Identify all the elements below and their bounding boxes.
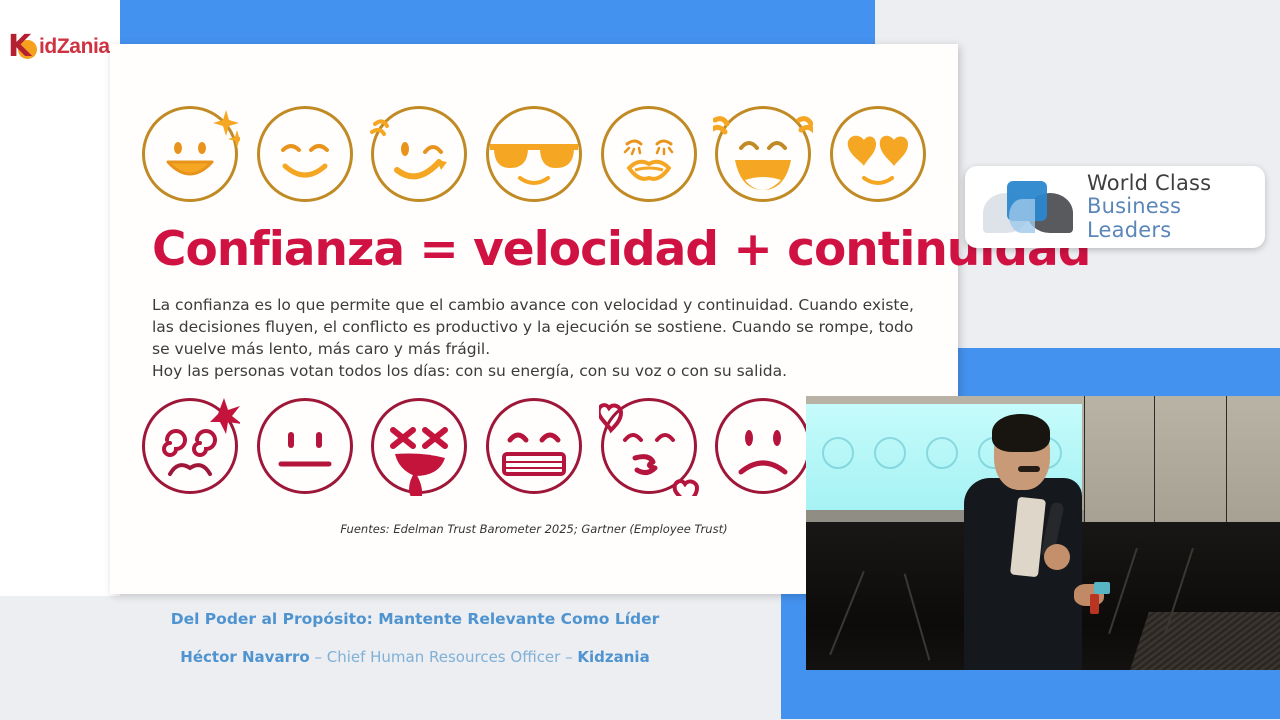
kissing-heart-face-icon	[599, 396, 699, 496]
caption-speaker-name: Héctor Navarro	[180, 648, 309, 666]
sad-face-icon	[713, 396, 813, 496]
kidzania-logo-text: idZania	[39, 35, 110, 59]
sunglasses-face-icon	[484, 104, 584, 204]
kidzania-logo: K idZania	[8, 32, 118, 62]
caption-speaker-line: Héctor Navarro – Chief Human Resources O…	[60, 648, 770, 666]
background-white-left	[0, 0, 120, 596]
emoji-row-top	[110, 104, 958, 204]
presenter-clicker-icon	[1094, 582, 1110, 594]
slide-headline: Confianza = velocidad + continuidad	[110, 222, 958, 277]
heart-eyes-face-icon	[828, 104, 928, 204]
tongue-out-face-icon	[369, 396, 469, 496]
caption-title: Del Poder al Propósito: Mantente Relevan…	[60, 610, 770, 628]
laughing-face-icon	[713, 104, 813, 204]
badge-line-2: Business Leaders	[1087, 195, 1265, 242]
slide-body-paragraph-1: La confianza es lo que permite que el ca…	[152, 294, 917, 360]
grimacing-face-icon	[484, 396, 584, 496]
neutral-face-icon	[255, 396, 355, 496]
sparkling-smile-face-icon	[140, 104, 240, 204]
caption-separator-1: –	[310, 648, 327, 666]
kidzania-logo-letter: K	[8, 33, 31, 61]
slide-body-paragraph-2: Hoy las personas votan todos los días: c…	[152, 360, 917, 382]
caption-role: Chief Human Resources Officer	[327, 648, 561, 666]
presentation-video-overlay[interactable]	[806, 396, 1280, 670]
world-class-business-leaders-badge: World Class Business Leaders	[965, 166, 1265, 248]
dizzy-face-icon	[140, 396, 240, 496]
badge-line-1: World Class	[1087, 172, 1265, 196]
caption-company: Kidzania	[577, 648, 649, 666]
slide-body: La confianza es lo que permite que el ca…	[152, 294, 917, 382]
winking-face-icon	[369, 104, 469, 204]
caption-separator-2: –	[560, 648, 577, 666]
blue-band-top	[120, 0, 875, 44]
overlapping-speech-bubbles-icon	[983, 179, 1073, 235]
screen: K idZania	[0, 0, 1280, 720]
kidzania-logo-mark-icon: K	[8, 33, 38, 61]
caption-block: Del Poder al Propósito: Mantente Relevan…	[60, 610, 770, 666]
kissing-lips-face-icon	[599, 104, 699, 204]
relieved-smile-face-icon	[255, 104, 355, 204]
